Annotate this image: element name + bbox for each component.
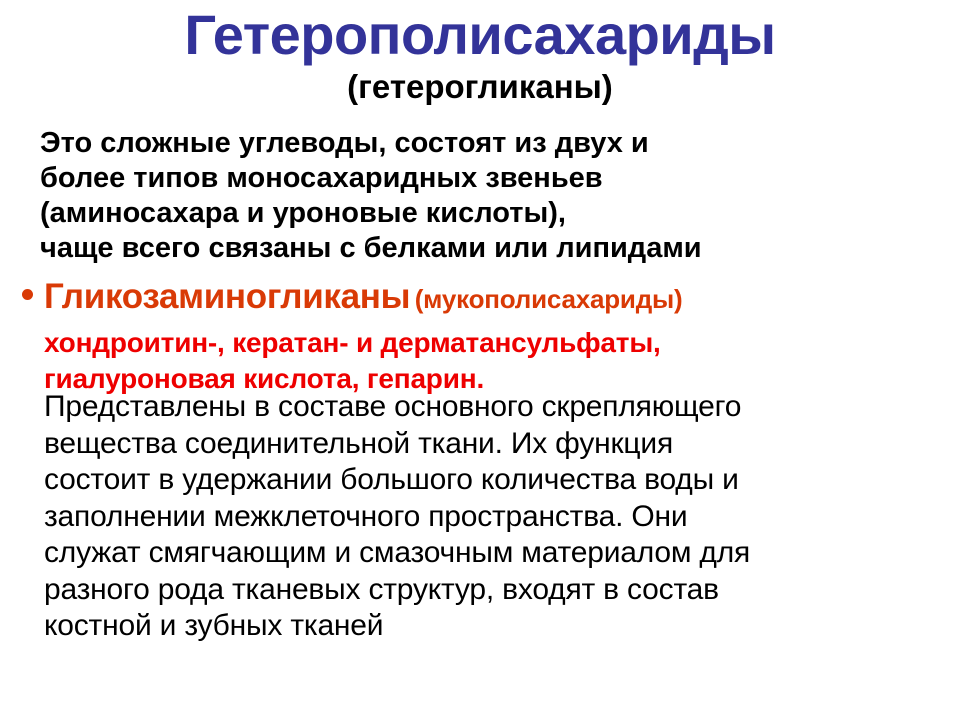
intro-line-2: более типов моносахаридных звеньев [40,161,945,196]
closing-line-2: вещества соединительной ткани. Их функци… [44,426,954,463]
page-subtitle: (гетерогликаны) [0,69,960,105]
bullet-dot-icon [22,289,33,300]
title-block: Гетерополисахариды (гетерогликаны) [0,6,960,105]
closing-line-3: состоит в удержании большого количества … [44,462,954,499]
slide-canvas: Гетерополисахариды (гетерогликаны) Это с… [0,0,960,720]
closing-paragraph: Представлены в составе основного скрепля… [44,389,954,645]
red-line-1: хондроитин-, кератан- и дерматансульфаты… [10,325,950,361]
closing-line-5: служат смягчающим и смазочным материалом… [44,535,954,572]
closing-line-4: заполнении межклеточного пространства. О… [44,499,954,536]
intro-line-3: (аминосахара и уроновые кислоты), [40,196,945,231]
intro-line-1: Это сложные углеводы, состоят из двух и [40,126,945,161]
closing-line-6: разного рода тканевых структур, входят в… [44,572,954,609]
bullet-heading-parenthetical: (мукополисахариды) [415,284,683,314]
page-title: Гетерополисахариды [0,6,960,65]
glycosaminoglycans-bullet: Гликозаминогликаны (мукополисахариды) хо… [10,276,950,397]
closing-line-7: костной и зубных тканей [44,608,954,645]
intro-line-4: чаще всего связаны с белками или липидам… [40,231,945,266]
bullet-heading-main: Гликозаминогликаны [44,277,410,316]
closing-line-1: Представлены в составе основного скрепля… [44,389,954,426]
intro-paragraph: Это сложные углеводы, состоят из двух и … [40,126,945,266]
bullet-heading-row: Гликозаминогликаны (мукополисахариды) [10,276,950,325]
